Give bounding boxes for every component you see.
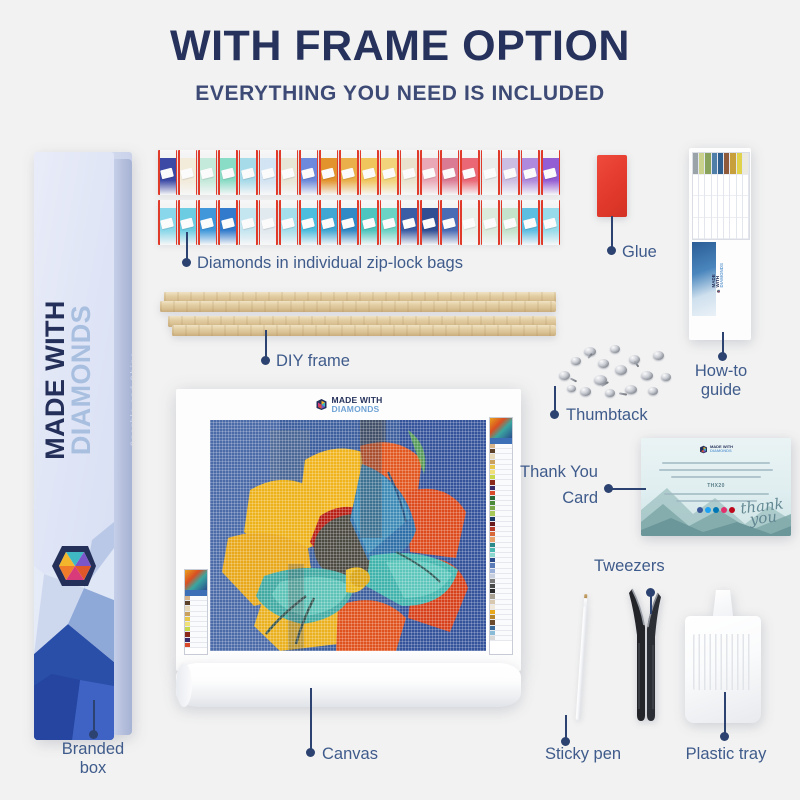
chart-cell [705,196,710,218]
instagram-icon [721,507,727,513]
diamond-bag [400,150,419,195]
thumbtack-pin [619,392,627,395]
diamond-bag [501,150,520,195]
bag-zip-seal [176,200,178,245]
frame-bar [172,325,556,336]
bag-zip-seal [218,150,220,195]
diamond-bag [541,200,560,245]
diamond-bag [158,150,177,195]
chart-cell [743,175,748,197]
chart-cell [693,175,698,197]
canvas-brand-line2: DIAMONDS [332,405,383,413]
callout-branded-box: Branded box [28,740,158,779]
chart-cell [712,175,717,197]
diamond-bag [198,150,217,195]
diamond-bag [460,200,479,245]
diamond-bag [279,200,298,245]
bag-zip-seal [380,200,382,245]
callout-plastic-tray: Plastic tray [664,745,788,764]
diamond-bag [521,200,540,245]
bag-zip-seal [178,200,180,245]
callout-glue: Glue [622,243,657,262]
canvas-brand-lockup: MADE WITH DIAMONDS [176,396,521,413]
chart-cell [724,175,729,197]
bag-zip-seal [279,200,281,245]
thumbtack [641,371,653,380]
callout-diamonds: Diamonds in individual zip-lock bags [197,254,463,273]
bag-zip-seal [481,150,483,195]
chart-cell [699,175,704,197]
canvas-art-image [210,420,486,651]
guide-brand-line2: DIAMONDS [720,263,724,288]
bag-zip-seal [317,150,319,195]
pinterest-icon [729,507,735,513]
diamond-bag [218,200,237,245]
bag-zip-seal [377,150,379,195]
chart-cell [712,196,717,218]
diamond-bag [521,150,540,195]
diamond-bag [440,200,459,245]
chart-swatch [693,153,698,175]
diamond-bag [178,200,197,245]
thumbtack [559,371,570,380]
bag-zip-seal [178,150,180,195]
bag-zip-seal [498,200,500,245]
diamond-bag [380,200,399,245]
diamond-bag [460,150,479,195]
diamond-bag [481,150,500,195]
box-front-face: MADE WITH DIAMONDS [34,152,114,740]
tweezers [628,583,662,723]
chart-swatch [699,153,704,175]
thumbtack-pile [553,343,681,405]
thumbtack [625,385,637,394]
chart-cell [737,196,742,218]
bag-zip-seal [256,200,258,245]
bag-zip-seal [458,150,460,195]
bag-zip-seal [417,200,419,245]
guide-brand-lockup: MADE WITH DIAMONDS [712,263,751,293]
chart-swatch [724,153,729,175]
legend-row [490,636,512,641]
bag-zip-seal [397,150,399,195]
bag-zip-seal [218,200,220,245]
bag-zip-seal [276,200,278,245]
callout-canvas: Canvas [322,745,378,764]
diamond-bag [158,200,177,245]
plastic-tray [685,590,761,723]
bag-zip-seal [276,150,278,195]
bag-zip-seal [158,200,160,245]
bag-zip-seal [417,150,419,195]
bag-zip-seal [400,200,402,245]
box-brand-lockup: MADE WITH DIAMONDS [42,212,106,548]
thumbtack-pin [570,378,577,383]
bag-zip-seal [380,150,382,195]
leader-thumbtack [554,386,556,412]
bag-zip-seal [259,200,261,245]
leader-thank-you [612,488,646,490]
bag-zip-seal [297,200,299,245]
diamond-bag [299,150,318,195]
bag-zip-seal [438,200,440,245]
chart-cell [730,175,735,197]
bag-zip-seal [256,150,258,195]
page-title: WITH FRAME OPTION [0,22,800,71]
callout-thank-you: Thank You Card [470,460,598,511]
diamond-logo-icon [714,290,723,294]
bag-zip-seal [279,150,281,195]
thumbtack [605,389,615,397]
thumbtack [571,357,581,365]
diamond-bag [239,200,258,245]
canvas-artwork: MADE WITH DIAMONDS [176,389,521,671]
diamond-logo-icon [48,540,100,592]
callout-tweezers: Tweezers [594,557,665,576]
box-brand-line1: MADE WITH [42,212,68,548]
chart-swatch [743,153,748,175]
chart-cell [730,218,735,240]
chart-cell [693,218,698,240]
linkedin-icon [713,507,719,513]
dot-thumbtack [550,410,559,419]
dot-thank-you [604,484,613,493]
diamond-bag [380,150,399,195]
box-brand-line2: DIAMONDS [68,212,94,548]
diamond-bag [440,150,459,195]
canvas-brand-text: MADE WITH DIAMONDS [332,396,383,412]
bag-zip-seal [501,150,503,195]
legend-row [185,643,207,648]
bag-zip-seal [297,150,299,195]
thank-you-card: MADE WITH DIAMONDS THX20 thank you [641,438,791,536]
leader-canvas [310,688,312,750]
how-to-guide: MADE WITH DIAMONDS [689,148,751,340]
card-text-line [664,493,769,495]
bag-zip-seal [299,200,301,245]
twitter-icon [705,507,711,513]
chart-cell [705,175,710,197]
canvas-diamond-grid [210,420,486,651]
diamond-bag [339,150,358,195]
dot-branded-box [89,730,98,739]
dot-glue [607,246,616,255]
leader-diamonds [186,232,188,260]
tray-grooves [693,634,753,690]
bag-zip-seal [478,150,480,195]
bag-zip-seal [236,150,238,195]
diamond-bag [198,200,217,245]
diamond-bag-row-bottom [158,200,560,245]
chart-cell [712,218,717,240]
box-side-face: Sparkle and Shine [114,159,132,735]
bag-zip-seal [360,150,362,195]
thumbtack [598,359,609,368]
chart-cell [743,196,748,218]
diamond-bag [420,200,439,245]
chart-cell [699,196,704,218]
chart-cell [743,218,748,240]
diamond-bag [178,150,197,195]
infographic-canvas: WITH FRAME OPTION EVERYTHING YOU NEED IS… [0,0,800,800]
bag-zip-seal [397,200,399,245]
bag-zip-seal [357,200,359,245]
bag-zip-seal [501,200,503,245]
diamond-bag [400,200,419,245]
guide-color-chart [692,152,750,240]
bag-zip-seal [239,200,241,245]
diamond-bag [279,150,298,195]
bag-zip-seal [176,150,178,195]
chart-cell [724,218,729,240]
bag-zip-seal [521,200,523,245]
diamond-bag [299,200,318,245]
card-text-line [662,462,770,464]
bag-zip-seal [440,150,442,195]
bag-zip-seal [196,150,198,195]
bag-zip-seal [377,200,379,245]
diamond-bag [319,200,338,245]
bag-zip-seal [498,150,500,195]
thumbtack [580,387,591,396]
card-discount-code: THX20 [641,483,791,489]
bag-zip-seal [337,200,339,245]
bag-zip-seal [216,200,218,245]
thumbtack [661,373,671,381]
thumbtack [610,345,620,353]
chart-cell [718,218,723,240]
bag-zip-seal [337,150,339,195]
chart-column [743,153,749,239]
sticky-pen [574,594,590,720]
leader-diy-frame [265,330,267,358]
callout-sticky-pen: Sticky pen [524,745,642,764]
bag-zip-seal [420,150,422,195]
bag-zip-seal [400,150,402,195]
chart-cell [718,196,723,218]
canvas-roll [176,663,521,707]
bag-zip-seal [299,150,301,195]
diamond-bag [481,200,500,245]
frame-bar [160,301,556,312]
bag-zip-seal [541,200,543,245]
chart-swatch [718,153,723,175]
leader-branded-box [93,700,95,732]
card-brand-line2: DIAMONDS [710,449,733,453]
diamond-bag [218,150,237,195]
tweezers-svg [628,583,662,723]
bag-zip-seal [559,150,560,195]
thumbtack [615,365,627,375]
chart-swatch [712,153,717,175]
leader-how-to [722,332,724,354]
dot-diamonds [182,258,191,267]
chart-cell [699,218,704,240]
bag-zip-seal [259,150,261,195]
leader-plastic-tray [724,692,726,734]
diamond-logo-svg [48,540,100,592]
bag-zip-seal [458,200,460,245]
pen-body [575,606,587,720]
bag-zip-seal [239,150,241,195]
bag-zip-seal [236,200,238,245]
bag-zip-seal [538,200,540,245]
leader-glue [611,216,613,248]
bag-zip-seal [420,200,422,245]
diamond-logo-icon [315,398,328,411]
branded-box: Sparkle and Shine MADE WITH DIAMONDS [34,152,132,740]
chart-swatch [705,153,710,175]
bag-zip-seal [541,150,543,195]
chart-cell [730,196,735,218]
diamond-bag [360,150,379,195]
chart-cell [737,218,742,240]
thumbtack [567,385,576,392]
card-brand-lockup: MADE WITH DIAMONDS [641,444,791,454]
card-text-line [659,469,773,471]
dot-tweezers [646,588,655,597]
box-side-text: Sparkle and Shine [131,309,133,489]
diamond-bag [259,150,278,195]
diamond-bag [319,150,338,195]
page-subtitle: EVERYTHING YOU NEED IS INCLUDED [0,82,800,106]
chart-swatch [730,153,735,175]
legend-thumbnail [185,570,207,590]
bag-zip-seal [518,150,520,195]
thumbtack [648,387,658,395]
bag-zip-seal [158,150,160,195]
diamond-bag [239,150,258,195]
diamond-bag [420,150,439,195]
facebook-icon [697,507,703,513]
diamond-logo-icon [699,445,708,454]
diamond-bag [360,200,379,245]
bag-zip-seal [559,200,560,245]
chart-cell [705,218,710,240]
bag-zip-seal [216,150,218,195]
dot-diy-frame [261,356,270,365]
bag-zip-seal [478,200,480,245]
bag-zip-seal [438,150,440,195]
diamond-bag-row-top [158,150,560,195]
diamond-bag [541,150,560,195]
callout-diy-frame: DIY frame [276,352,350,371]
bag-zip-seal [538,150,540,195]
bag-zip-seal [481,200,483,245]
dot-canvas [306,748,315,757]
color-legend-left [184,569,208,655]
diamond-bag [501,200,520,245]
chart-cell [693,196,698,218]
card-text-line [671,476,761,478]
legend-thumbnail [490,418,512,438]
bag-zip-seal [521,150,523,195]
diamond-bag [339,200,358,245]
thumbtack [653,351,664,360]
bag-zip-seal [196,200,198,245]
leader-sticky-pen [565,715,567,739]
chart-swatch [737,153,742,175]
bag-zip-seal [440,200,442,245]
diy-frame [158,292,560,344]
bag-zip-seal [357,150,359,195]
color-legend-right [489,417,513,655]
bag-zip-seal [518,200,520,245]
glue-package [597,155,627,217]
dot-how-to [718,352,727,361]
callout-thumbtack: Thumbtack [566,406,648,425]
chart-cell [737,175,742,197]
diamond-bag [259,200,278,245]
bag-zip-seal [360,200,362,245]
chart-cell [718,175,723,197]
dot-plastic-tray [720,732,729,741]
chart-cell [724,196,729,218]
bag-zip-seal [317,200,319,245]
